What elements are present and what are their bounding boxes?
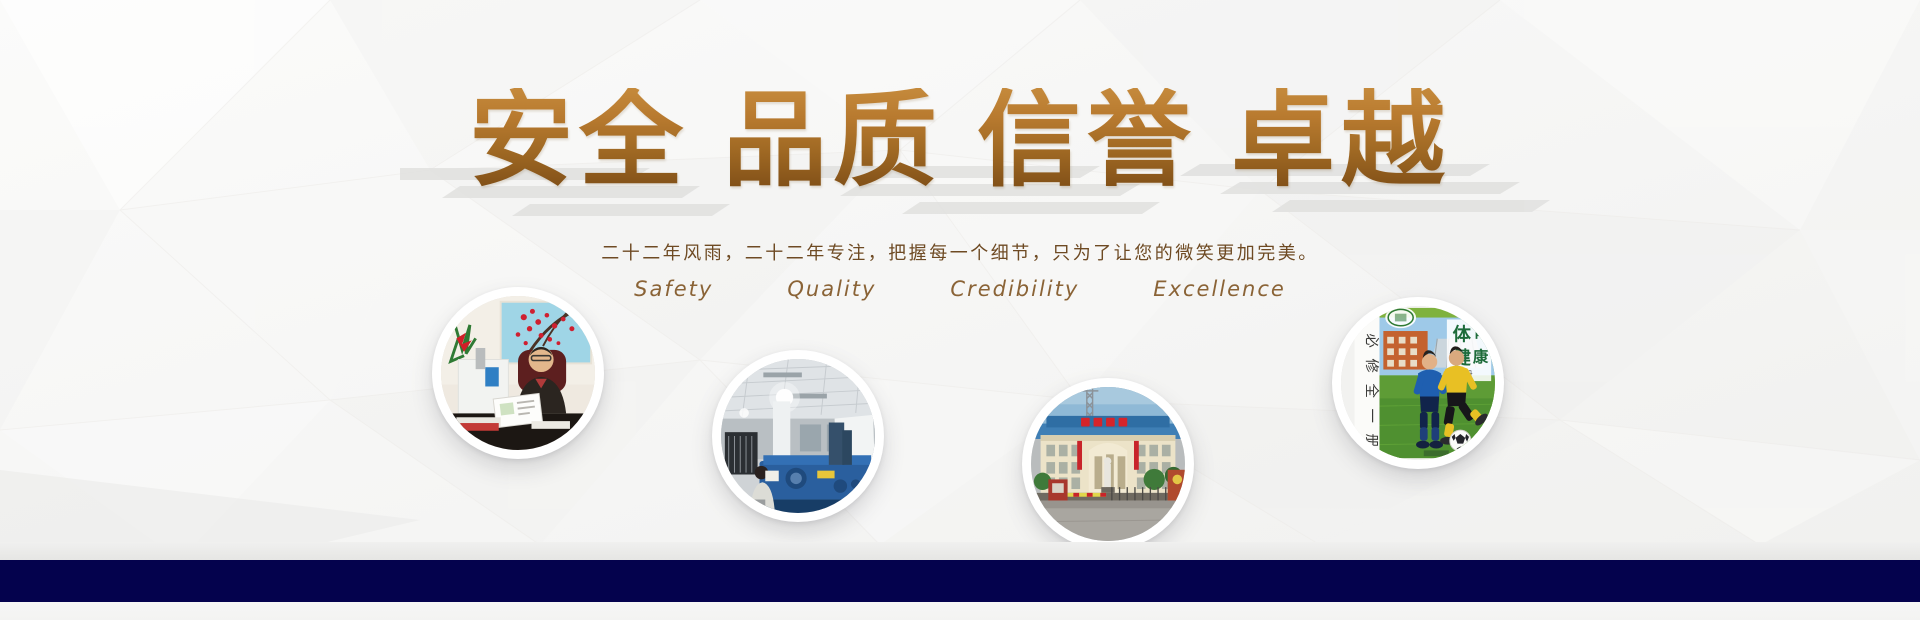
svg-text:册: 册 [1363, 434, 1379, 448]
bottom-navy-bar [0, 560, 1920, 602]
photo-circle-executive-at-desk [432, 287, 604, 459]
svg-text:一: 一 [1363, 409, 1379, 423]
svg-text:全: 全 [1363, 383, 1381, 398]
headline-word-3: 信誉 [977, 79, 1197, 201]
svg-text:体: 体 [1453, 324, 1472, 346]
navy-strip [0, 560, 1920, 602]
keyword-excellence: Excellence [1153, 277, 1286, 301]
photo-circle-textbook-cover: 必 修 全 一 册 [1332, 297, 1504, 469]
headline-word-1: 安全 [469, 79, 689, 201]
headline-word-2: 品质 [723, 79, 943, 201]
bar-bottom-edge [0, 602, 1920, 620]
svg-text:必: 必 [1363, 333, 1380, 347]
photo-circle-company-building [1022, 378, 1194, 550]
subtitle-text: 二十二年风雨，二十二年专注，把握每一个细节，只为了让您的微笑更加完美。 [0, 239, 1920, 265]
svg-text:康: 康 [1473, 347, 1489, 366]
promo-banner: 安全品质信誉卓越 二十二年风雨，二十二年专注，把握每一个细节，只为了让您的微笑更… [0, 0, 1920, 620]
keyword-safety: Safety [634, 277, 713, 301]
keyword-credibility: Credibility [950, 277, 1079, 301]
photo-executive-at-desk [441, 296, 595, 450]
photo-circle-printing-workshop [712, 350, 884, 522]
svg-text:育: 育 [1473, 322, 1488, 341]
photo-company-building [1031, 387, 1185, 541]
bar-top-edge [0, 542, 1920, 560]
svg-text:修: 修 [1363, 358, 1380, 373]
photo-printing-workshop [721, 359, 875, 513]
banner-content: 安全品质信誉卓越 二十二年风雨，二十二年专注，把握每一个细节，只为了让您的微笑更… [0, 0, 1920, 620]
page-title: 安全品质信誉卓越 [0, 88, 1920, 192]
keyword-quality: Quality [787, 277, 876, 301]
keyword-row: Safety Quality Credibility Excellence [0, 277, 1920, 301]
photo-textbook-cover: 必 修 全 一 册 [1341, 306, 1495, 460]
headline-word-4: 卓越 [1231, 79, 1451, 201]
